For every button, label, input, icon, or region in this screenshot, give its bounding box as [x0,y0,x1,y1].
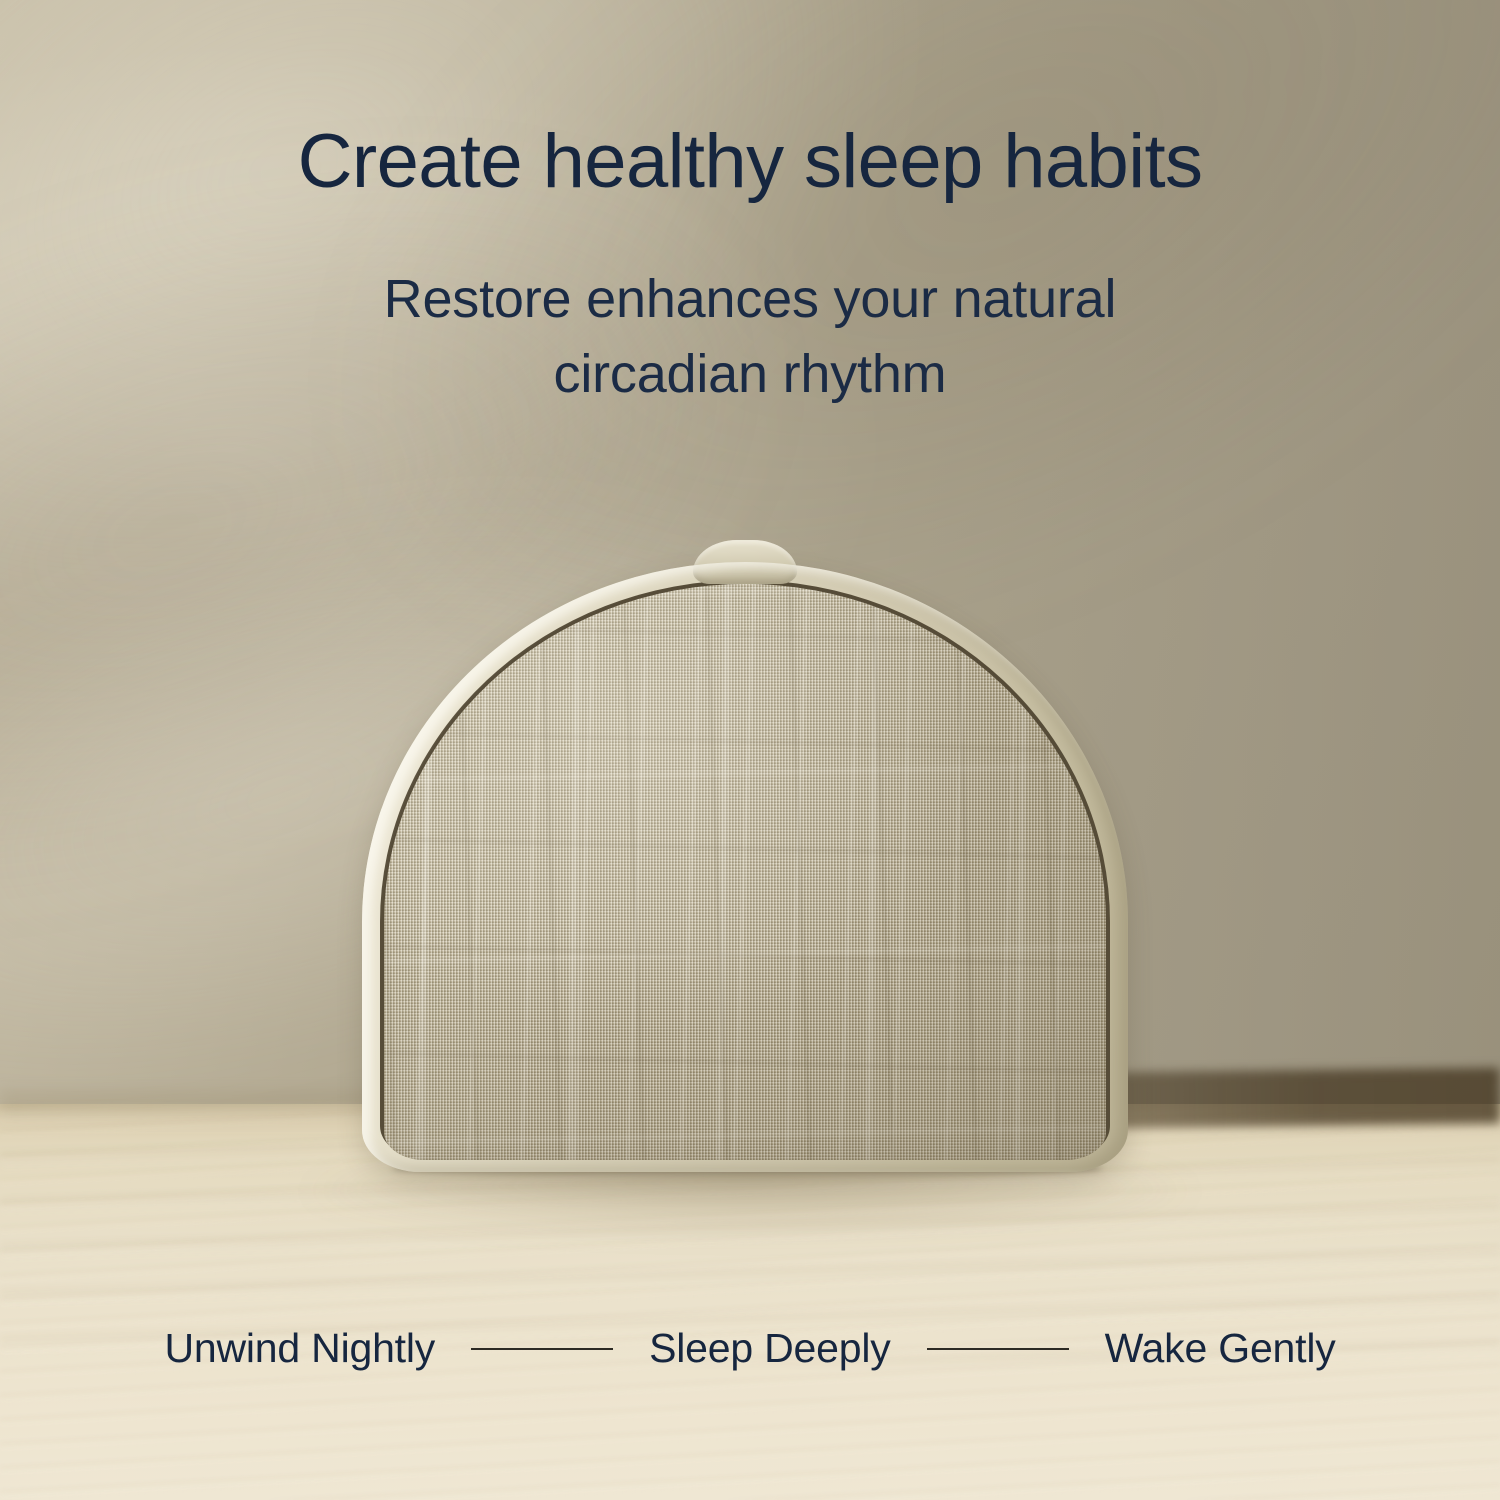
feature-separator-1 [471,1348,613,1350]
product-device [362,540,1128,1172]
fabric-lighting-overlay [384,584,1106,1160]
feature-separator-2 [927,1348,1069,1350]
page-subtitle-line-2: circadian rhythm [250,337,1250,412]
top-control-knob-icon[interactable] [693,540,797,584]
feature-label-wake-gently: Wake Gently [1105,1325,1336,1372]
feature-label-sleep-deeply: Sleep Deeply [649,1325,890,1372]
feature-label-unwind-nightly: Unwind Nightly [164,1325,435,1372]
product-marketing-image: Create healthy sleep habits Restore enha… [0,0,1500,1500]
feature-row: Unwind Nightly Sleep Deeply Wake Gently [0,1325,1500,1372]
page-subtitle: Restore enhances your natural circadian … [250,262,1250,411]
page-title: Create healthy sleep habits [0,122,1500,202]
page-subtitle-line-1: Restore enhances your natural [250,262,1250,337]
device-linen-fabric-face [384,584,1106,1160]
